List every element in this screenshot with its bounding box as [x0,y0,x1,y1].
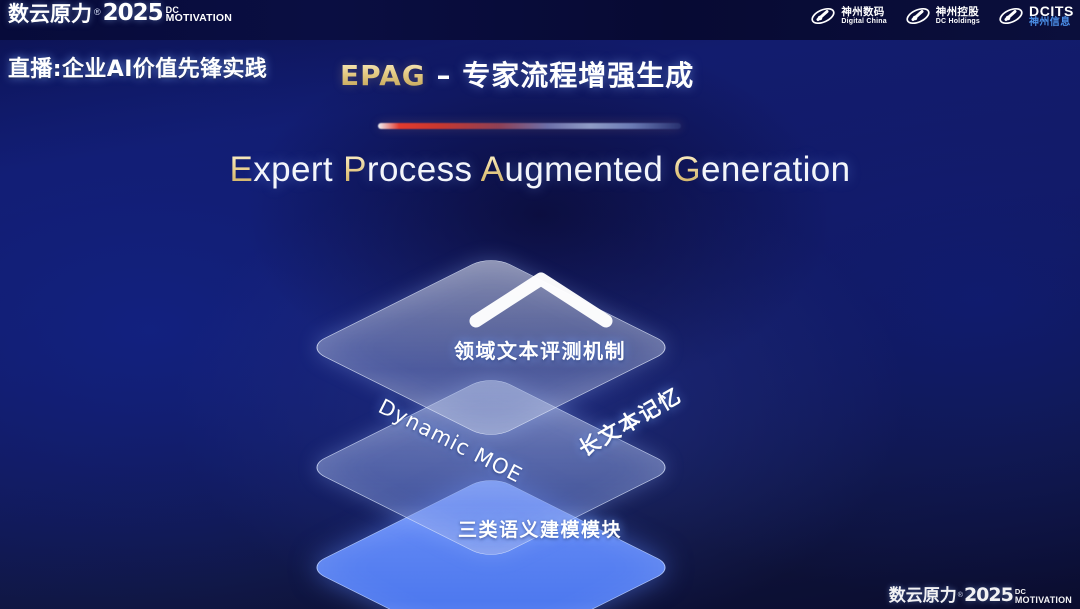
page-subtitle: Expert Process Augmented Generation [0,150,1080,190]
partner-logo-dcits: DCITS 神州信息 [998,4,1074,28]
partner-logo-group: 神州数码 Digital China 神州控股 DC Holdings [810,4,1074,28]
slide-canvas: 数云原力® 2025 DC MOTIVATION 直播:企业AI价值先锋实践 神… [0,0,1080,609]
watermark-motivation: MOTIVATION [1015,596,1072,604]
swirl-logo-icon [998,4,1024,28]
partner-logo-digital-china: 神州数码 Digital China [810,4,886,28]
brand-motivation: MOTIVATION [166,14,232,24]
subtitle-capital-a: A [481,150,505,189]
partner-name-en: DC Holdings [936,18,980,25]
partner-name-en: Digital China [841,18,886,25]
subtitle-word-generation: eneration [701,150,851,189]
watermark-registered-mark: ® [958,592,963,599]
partner-name-cn: 神州数码 [841,7,886,18]
watermark-name-cn: 数云原力 [889,588,957,605]
brand-name-cn: 数云原力 [8,4,92,25]
subtitle-word-process: rocess [367,150,473,189]
brand-year: 2025 [103,2,163,25]
subtitle-capital-p: P [343,150,367,189]
partner-name-cn: 神州信息 [1029,18,1074,28]
brand-logo: 数云原力® 2025 DC MOTIVATION [8,2,338,25]
partner-name-cn: 神州控股 [936,7,980,18]
live-stream-title: 直播:企业AI价值先锋实践 [8,51,267,83]
gradient-divider [378,123,681,129]
registered-mark: ® [94,8,101,17]
partner-logo-dc-holdings: 神州控股 DC Holdings [905,4,980,28]
subtitle-word-augmented: ugmented [504,150,663,189]
swirl-logo-icon [810,4,836,28]
watermark-year: 2025 [964,586,1013,605]
stack-layer-top [290,217,790,477]
chevron-up-icon [466,267,616,329]
title-separator: – [426,59,463,92]
title-chinese: 专家流程增强生成 [462,59,694,92]
subtitle-capital-e: E [229,150,253,189]
subtitle-capital-g: G [673,150,701,189]
page-title: EPAG – 专家流程增强生成 [340,54,694,94]
subtitle-word-expert: xpert [253,150,333,189]
title-acronym: EPAG [340,59,426,92]
swirl-logo-icon [905,4,931,28]
layer-stack-diagram: 领域文本评测机制 Dynamic MOE 长文本记忆 三类语义建模模块 [290,225,790,590]
brand-watermark: 数云原力® 2025 DC MOTIVATION [889,586,1072,605]
